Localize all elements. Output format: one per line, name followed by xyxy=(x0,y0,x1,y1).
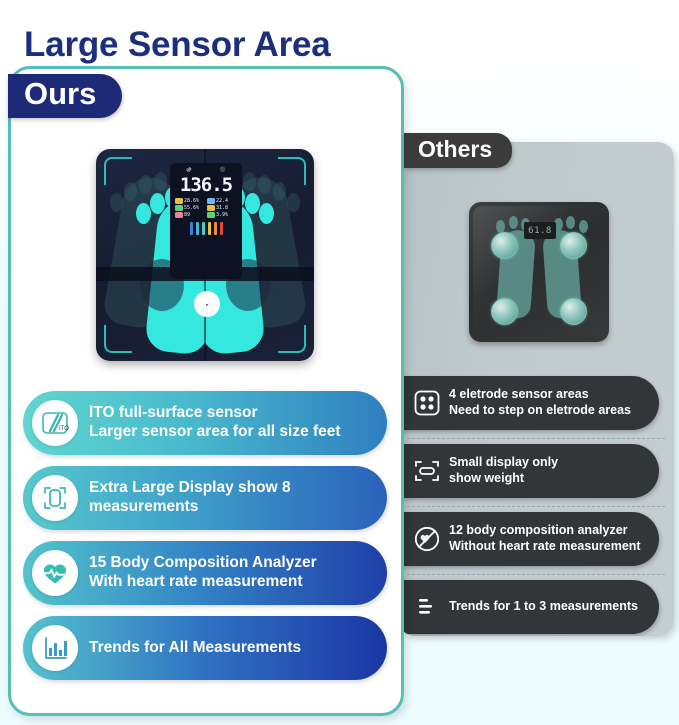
electrode-pad-icon xyxy=(491,298,518,325)
indicator-bar xyxy=(196,222,199,235)
display-metric: 31.8 xyxy=(207,205,237,211)
others-feature-subtitle: Need to step on eletrode areas xyxy=(449,403,631,417)
ours-feature-title: 15 Body Composition Analyzer xyxy=(89,554,317,571)
electrode-pad-icon xyxy=(491,232,518,259)
metric-value: 28.6% xyxy=(184,198,199,204)
others-feature-row: 12 body composition analyzer Without hea… xyxy=(399,506,674,574)
metric-value: 89 xyxy=(184,212,190,218)
others-feature-title: 4 eletrode sensor areas xyxy=(449,387,589,401)
others-feature-item-display: Small display only show weight xyxy=(399,444,659,498)
svg-text:ITO: ITO xyxy=(59,426,69,432)
ours-scale-image: ⚣ ⚫ 136.5 28.6% 22.4 55.6% xyxy=(96,149,314,361)
sensor-toe xyxy=(150,193,165,214)
ours-feature-title: Trends for All Measurements xyxy=(89,639,301,656)
ours-feature-row: Trends for All Measurements xyxy=(19,612,393,687)
others-feature-title: 12 body composition analyzer xyxy=(449,523,628,537)
display-metric: 55.6% xyxy=(175,205,205,211)
display-metric: 22.4 xyxy=(207,198,237,204)
others-feature-row: Small display only show weight xyxy=(399,438,674,506)
corner-accent xyxy=(104,325,132,353)
ghost-toe xyxy=(273,182,286,201)
metric-value: 3.9% xyxy=(216,212,228,218)
others-feature-text: 12 body composition analyzer Without hea… xyxy=(447,523,649,554)
ours-feature-text: 15 Body Composition Analyzer With heart … xyxy=(78,554,329,591)
ours-feature-text: lTO full-surface sensor Larger sensor ar… xyxy=(78,404,353,441)
ours-badge: Ours xyxy=(8,74,122,118)
no-heart-rate-icon xyxy=(407,525,447,553)
others-feature-item-analyzer: 12 body composition analyzer Without hea… xyxy=(399,512,659,566)
bar-chart-icon xyxy=(32,625,78,671)
display-metric: 3.9% xyxy=(207,212,237,218)
ito-sensor-icon: ITO xyxy=(32,400,78,446)
small-display-icon xyxy=(407,457,447,485)
heart-rate-icon xyxy=(175,212,183,218)
ours-feature-row: ITO lTO full-surface sensor Larger senso… xyxy=(19,387,393,462)
indicator-bar xyxy=(214,222,217,235)
ghost-toe xyxy=(110,193,123,212)
others-feature-row: 4 eletrode sensor areas Need to step on … xyxy=(399,370,674,438)
bone-mass-icon xyxy=(207,212,215,218)
ours-feature-subtitle: Larger sensor area for all size feet xyxy=(89,423,341,442)
others-feature-subtitle: show weight xyxy=(449,471,524,485)
ours-feature-item-trends: Trends for All Measurements xyxy=(23,616,387,680)
ours-scale-display: ⚣ ⚫ 136.5 28.6% 22.4 55.6% xyxy=(170,163,242,279)
others-feature-text: Trends for 1 to 3 measurements xyxy=(447,599,646,615)
others-feature-subtitle: Without heart rate measurement xyxy=(449,539,641,553)
page-title: Large Sensor Area xyxy=(24,25,331,65)
ghost-toe xyxy=(287,193,300,212)
ours-feature-subtitle: With heart rate measurement xyxy=(89,573,317,592)
ours-feature-title: lTO full-surface sensor xyxy=(89,404,258,421)
ours-feature-row: 15 Body Composition Analyzer With heart … xyxy=(19,537,393,612)
body-fat-icon xyxy=(175,198,183,204)
ghost-toe xyxy=(139,175,152,194)
ours-feature-item-large-display: Extra Large Display show 8 measurements xyxy=(23,466,387,530)
others-toe xyxy=(566,216,575,229)
electrode-pad-icon xyxy=(560,232,587,259)
ghost-toe xyxy=(258,175,271,194)
others-scale-display: 61.8 xyxy=(524,222,556,239)
others-feature-item-electrodes: 4 eletrode sensor areas Need to step on … xyxy=(399,376,659,430)
ours-feature-text: Extra Large Display show 8 measurements xyxy=(78,479,303,516)
sensor-toe xyxy=(136,203,151,224)
display-weight-value: 136.5 xyxy=(172,174,240,196)
sensor-toe xyxy=(259,203,274,224)
sensor-toe xyxy=(245,193,260,214)
muscle-icon xyxy=(207,205,215,211)
others-toe xyxy=(509,216,518,229)
display-metric: 28.6% xyxy=(175,198,205,204)
display-status-row: ⚣ ⚫ xyxy=(172,166,240,174)
display-metric: 89 xyxy=(175,212,205,218)
corner-accent xyxy=(278,157,306,185)
others-feature-title: Trends for 1 to 3 measurements xyxy=(449,599,638,613)
water-icon xyxy=(175,205,183,211)
ghost-toe xyxy=(154,172,167,191)
four-dots-icon xyxy=(407,389,447,417)
brand-logo-icon: ● xyxy=(194,291,220,317)
ours-feature-row: Extra Large Display show 8 measurements xyxy=(19,462,393,537)
user-icon: ⚫ xyxy=(220,167,226,173)
others-feature-text: 4 eletrode sensor areas Need to step on … xyxy=(447,387,639,418)
ours-feature-title: Extra Large Display show 8 xyxy=(89,479,291,496)
trends-list-icon xyxy=(407,594,447,620)
ours-feature-item-body-analyzer: 15 Body Composition Analyzer With heart … xyxy=(23,541,387,605)
indicator-bar xyxy=(220,222,223,235)
others-toe xyxy=(579,220,588,233)
heart-pulse-icon xyxy=(32,550,78,596)
corner-accent xyxy=(278,325,306,353)
indicator-bar xyxy=(190,222,193,235)
others-feature-title: Small display only xyxy=(449,455,558,469)
others-feature-row: Trends for 1 to 3 measurements xyxy=(399,574,674,636)
bluetooth-icon: ⚣ xyxy=(186,167,191,173)
ghost-toe xyxy=(124,182,137,201)
metric-value: 55.6% xyxy=(184,205,199,211)
ghost-toe xyxy=(243,172,256,191)
ours-feature-text: Trends for All Measurements xyxy=(78,639,313,658)
others-feature-item-trends: Trends for 1 to 3 measurements xyxy=(399,580,659,634)
indicator-bar xyxy=(208,222,211,235)
ours-feature-list: ITO lTO full-surface sensor Larger senso… xyxy=(19,387,393,687)
indicator-bar xyxy=(202,222,205,235)
ours-feature-item-ito-sensor: ITO lTO full-surface sensor Larger senso… xyxy=(23,391,387,455)
display-indicator-bars xyxy=(172,218,240,235)
bmi-icon xyxy=(207,198,215,204)
electrode-pad-icon xyxy=(560,298,587,325)
display-metrics-grid: 28.6% 22.4 55.6% 31.8 89 xyxy=(172,196,240,218)
others-feature-list: 4 eletrode sensor areas Need to step on … xyxy=(399,370,674,636)
others-panel: 61.8 4 eletrode sensor areas Need to ste… xyxy=(399,142,674,636)
ours-feature-subtitle: measurements xyxy=(89,498,291,517)
others-display-value: 61.8 xyxy=(528,226,552,236)
others-feature-text: Small display only show weight xyxy=(447,455,566,486)
metric-value: 31.8 xyxy=(216,205,228,211)
display-frame-icon xyxy=(32,475,78,521)
metric-value: 22.4 xyxy=(216,198,228,204)
corner-accent xyxy=(104,157,132,185)
others-badge: Others xyxy=(404,133,512,168)
others-scale-image: 61.8 xyxy=(469,202,609,342)
ours-card: ⚣ ⚫ 136.5 28.6% 22.4 55.6% xyxy=(8,66,404,716)
